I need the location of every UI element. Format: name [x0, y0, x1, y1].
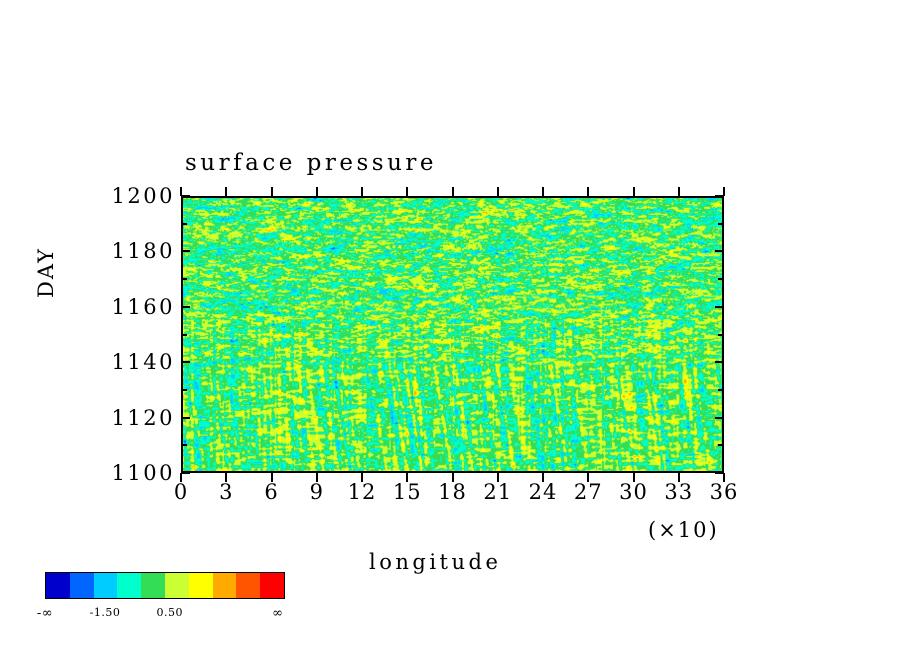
- x-tick-top: [225, 187, 227, 196]
- colorbar-swatch: [46, 573, 70, 598]
- x-tick-label: 3: [219, 480, 233, 504]
- y-tick-minor: [718, 334, 724, 336]
- x-tick-top: [678, 187, 680, 196]
- y-tick-major-right: [715, 306, 724, 308]
- y-tick-major: [181, 472, 190, 474]
- y-tick-major: [181, 306, 190, 308]
- x-tick-bottom: [452, 473, 454, 482]
- x-tick-label: 36: [710, 480, 739, 504]
- y-tick-minor: [181, 444, 187, 446]
- x-axis-labels: 0369121518212427303336: [181, 480, 724, 510]
- colorbar-swatch: [165, 573, 189, 598]
- y-tick-minor: [181, 278, 187, 280]
- colorbar-tick-label: ∞: [272, 606, 283, 621]
- x-tick-label: 12: [348, 480, 377, 504]
- x-tick-label: 27: [574, 480, 603, 504]
- y-tick-minor: [718, 444, 724, 446]
- x-tick-bottom: [316, 473, 318, 482]
- y-tick-major-right: [715, 417, 724, 419]
- x-tick-label: 18: [438, 480, 467, 504]
- x-tick-top: [361, 187, 363, 196]
- heatmap-canvas: [183, 198, 722, 471]
- x-tick-top: [497, 187, 499, 196]
- x-tick-bottom: [497, 473, 499, 482]
- x-tick-label: 33: [664, 480, 693, 504]
- x-tick-top: [723, 187, 725, 196]
- x-tick-label: 30: [619, 480, 648, 504]
- x-tick-top: [271, 187, 273, 196]
- colorbar-swatch: [117, 573, 141, 598]
- y-tick-label: 1120: [89, 406, 175, 430]
- y-tick-label: 1200: [89, 184, 175, 208]
- x-tick-top: [406, 187, 408, 196]
- x-tick-bottom: [180, 473, 182, 482]
- colorbar-swatch: [141, 573, 165, 598]
- y-tick-major-right: [715, 361, 724, 363]
- colorbar-swatch: [213, 573, 237, 598]
- y-tick-label: 1100: [89, 461, 175, 485]
- x-tick-label: 24: [529, 480, 558, 504]
- x-tick-top: [452, 187, 454, 196]
- colorbar-tick-label: -∞: [37, 606, 53, 621]
- x-tick-top: [180, 187, 182, 196]
- colorbar-swatch: [236, 573, 260, 598]
- colorbar: [45, 572, 285, 599]
- colorbar-swatch: [260, 573, 284, 598]
- y-tick-major: [181, 195, 190, 197]
- y-tick-label: 1180: [89, 239, 175, 263]
- x-tick-bottom: [633, 473, 635, 482]
- colorbar-tick-label: 0.50: [157, 606, 184, 619]
- x-axis-title: longitude: [369, 550, 501, 574]
- x-axis-multiplier: (×10): [648, 518, 719, 542]
- y-tick-major: [181, 361, 190, 363]
- y-axis-title: DAY: [34, 247, 58, 298]
- x-tick-label: 6: [264, 480, 278, 504]
- x-tick-bottom: [271, 473, 273, 482]
- y-tick-minor: [181, 223, 187, 225]
- y-tick-minor: [718, 223, 724, 225]
- y-tick-minor: [181, 389, 187, 391]
- x-tick-bottom: [587, 473, 589, 482]
- colorbar-labels: -∞-1.500.50∞: [45, 606, 285, 626]
- x-tick-bottom: [406, 473, 408, 482]
- x-tick-label: 0: [174, 480, 188, 504]
- x-tick-bottom: [225, 473, 227, 482]
- x-tick-top: [542, 187, 544, 196]
- x-tick-bottom: [361, 473, 363, 482]
- colorbar-swatch: [70, 573, 94, 598]
- heatmap-plot-area: [181, 196, 724, 473]
- colorbar-tick-label: -1.50: [90, 606, 121, 619]
- y-tick-major: [181, 417, 190, 419]
- y-tick-major-right: [715, 250, 724, 252]
- y-tick-label: 1160: [89, 295, 175, 319]
- y-tick-major: [181, 250, 190, 252]
- colorbar-swatch: [189, 573, 213, 598]
- x-tick-bottom: [542, 473, 544, 482]
- colorbar-swatch: [94, 573, 118, 598]
- chart-root: surface pressure 11001120114011601180120…: [0, 0, 904, 654]
- y-tick-minor: [718, 389, 724, 391]
- x-tick-top: [587, 187, 589, 196]
- x-tick-top: [316, 187, 318, 196]
- x-tick-label: 9: [310, 480, 324, 504]
- x-tick-label: 15: [393, 480, 422, 504]
- y-tick-minor: [181, 334, 187, 336]
- y-axis-labels: 110011201140116011801200: [85, 196, 175, 473]
- y-tick-label: 1140: [89, 350, 175, 374]
- page-title: surface pressure: [185, 150, 437, 176]
- x-tick-label: 21: [483, 480, 512, 504]
- y-tick-minor: [718, 278, 724, 280]
- x-tick-bottom: [678, 473, 680, 482]
- x-tick-top: [633, 187, 635, 196]
- x-tick-bottom: [723, 473, 725, 482]
